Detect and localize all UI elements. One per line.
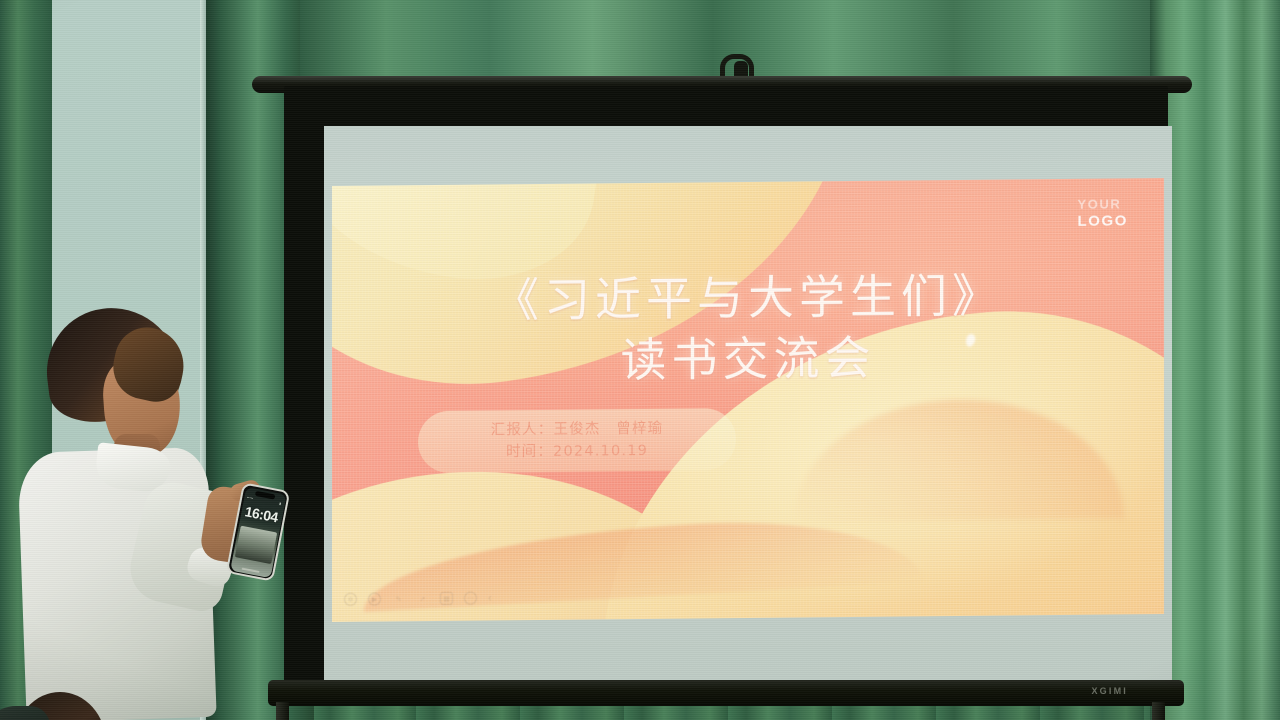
logo-line-your: YOUR [1077, 196, 1128, 213]
phone-wallpaper-photo [234, 525, 276, 563]
screen-surface: YOUR LOGO 《习近平与大学生们》 读书交流会 汇报人：王俊杰 曾梓瑜 时… [324, 126, 1172, 692]
slide-subtitle-pill: 汇报人：王俊杰 曾梓瑜 时间：2024.10.19 [418, 408, 736, 473]
screen-brand-label: XGIMI [1091, 686, 1128, 696]
projected-slide[interactable]: YOUR LOGO 《习近平与大学生们》 读书交流会 汇报人：王俊杰 曾梓瑜 时… [332, 178, 1164, 622]
subtitle-presenter: 汇报人：王俊杰 曾梓瑜 [491, 417, 664, 441]
phone-battery-icon: ▮ [279, 501, 282, 505]
phone-signal-icon: ••••• [247, 495, 254, 500]
presenter-person: ••••• ▮ 16:04 [18, 300, 268, 720]
settings-icon[interactable]: ✲ [344, 593, 357, 606]
screen-leg-right [1152, 702, 1165, 720]
subtitle-date: 时间：2024.10.19 [506, 440, 648, 464]
pen-icon[interactable]: ✎ [392, 592, 405, 605]
slide-title-line-1: 《习近平与大学生们》 [493, 269, 1003, 328]
screen-leg-left [276, 702, 289, 720]
slide-title-line-2: 读书交流会 [332, 325, 1164, 394]
more-icon[interactable]: ⋯ [464, 592, 477, 605]
next-chevron-icon[interactable]: ‹ [488, 592, 492, 604]
pointer-icon[interactable]: ➚ [416, 592, 429, 605]
logo-line-logo: LOGO [1077, 213, 1128, 232]
grid-icon[interactable]: ▦ [440, 592, 453, 605]
projector-screen: YOUR LOGO 《习近平与大学生们》 读书交流会 汇报人：王俊杰 曾梓瑜 时… [262, 62, 1182, 712]
slide-title: 《习近平与大学生们》 读书交流会 [332, 264, 1164, 393]
play-icon[interactable]: ▶ [368, 593, 381, 606]
phone-lockscreen-time: 16:04 [240, 502, 283, 526]
phone-home-indicator[interactable] [242, 567, 260, 572]
screen-legs [262, 702, 1182, 714]
screen-frame: YOUR LOGO 《习近平与大学生们》 读书交流会 汇报人：王俊杰 曾梓瑜 时… [284, 86, 1168, 686]
slide-control-toolbar[interactable]: ✲ ▶ ✎ ➚ ▦ ⋯ ‹ [344, 591, 492, 605]
slide-logo: YOUR LOGO [1077, 196, 1128, 231]
